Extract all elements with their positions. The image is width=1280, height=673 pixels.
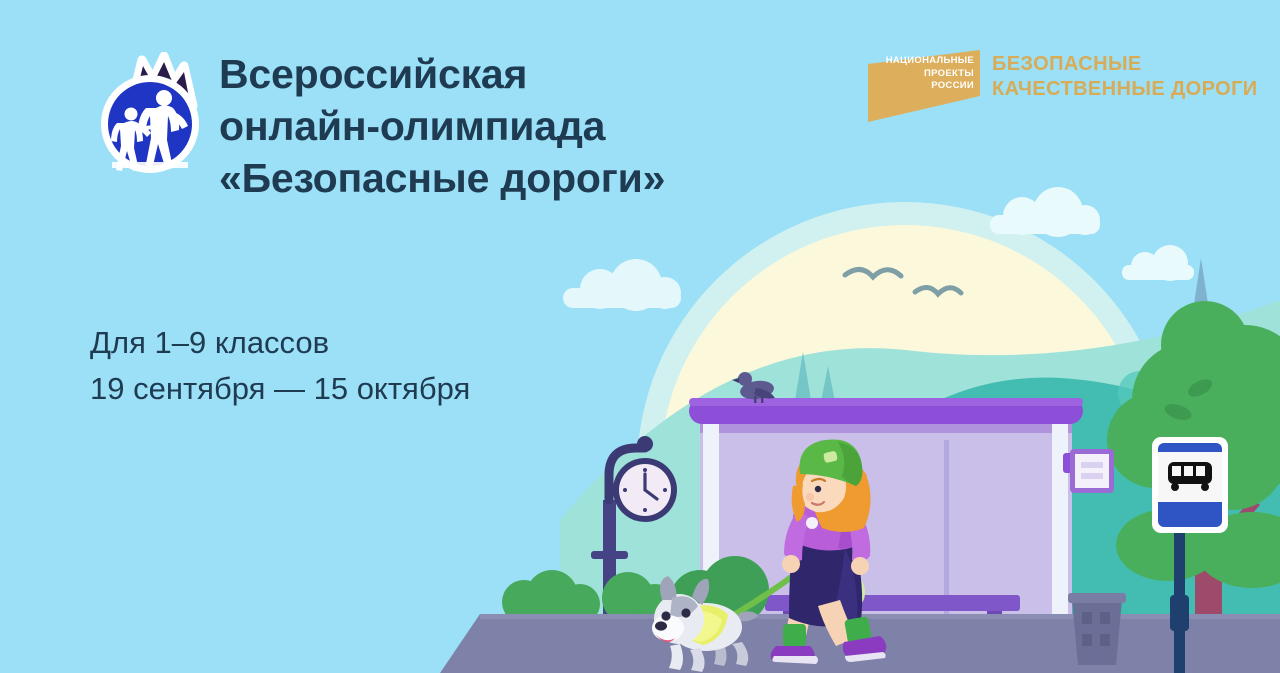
- headline-line-1: Всероссийская: [219, 48, 859, 100]
- girl-sock-back: [783, 624, 806, 646]
- grades-line: Для 1–9 классов: [90, 320, 710, 366]
- np-flag-line-2: ПРОЕКТЫ: [874, 68, 974, 81]
- girl-button: [806, 517, 818, 529]
- national-project-title: БЕЗОПАСНЫЕ КАЧЕСТВЕННЫЕ ДОРОГИ: [992, 52, 1258, 102]
- national-project-logo: НАЦИОНАЛЬНЫЕ ПРОЕКТЫ РОССИИ БЕЗОПАСНЫЕ К…: [868, 50, 1258, 122]
- shelter-roof-shadow: [700, 424, 1072, 433]
- ground-top-edge: [480, 614, 1280, 619]
- page-title: Всероссийская онлайн-олимпиада «Безопасн…: [219, 48, 859, 204]
- girl-hand-front: [851, 557, 869, 575]
- timetable-board: [1063, 449, 1114, 493]
- dog-eye-left: [661, 611, 670, 620]
- logo-ground-bar: [112, 162, 188, 168]
- clock-knob: [637, 436, 653, 452]
- event-details: Для 1–9 классов 19 сентября — 15 октября: [90, 320, 710, 412]
- headline-line-2: онлайн-олимпиада: [219, 100, 859, 152]
- np-title-line-1: БЕЗОПАСНЫЕ: [992, 52, 1258, 77]
- dog-nose: [655, 621, 667, 630]
- national-project-flag-text: НАЦИОНАЛЬНЫЕ ПРОЕКТЫ РОССИИ: [874, 55, 974, 93]
- girl-cheek: [806, 493, 814, 501]
- dog-eye-right: [681, 608, 690, 617]
- np-flag-line-3: РОССИИ: [874, 80, 974, 93]
- np-title-line-2: КАЧЕСТВЕННЫЕ ДОРОГИ: [992, 77, 1258, 102]
- olympiad-banner: Всероссийская онлайн-олимпиада «Безопасн…: [0, 0, 1280, 673]
- girl-eye: [815, 486, 821, 492]
- girl-hand-back: [782, 555, 800, 573]
- np-flag-line-1: НАЦИОНАЛЬНЫЕ: [874, 55, 974, 68]
- sign-pole-collar: [1170, 595, 1189, 631]
- headline-line-3: «Безопасные дороги»: [219, 152, 859, 204]
- clock-pole-ring: [591, 551, 628, 559]
- dates-line: 19 сентября — 15 октября: [90, 366, 710, 412]
- olympiad-logo: [98, 52, 206, 176]
